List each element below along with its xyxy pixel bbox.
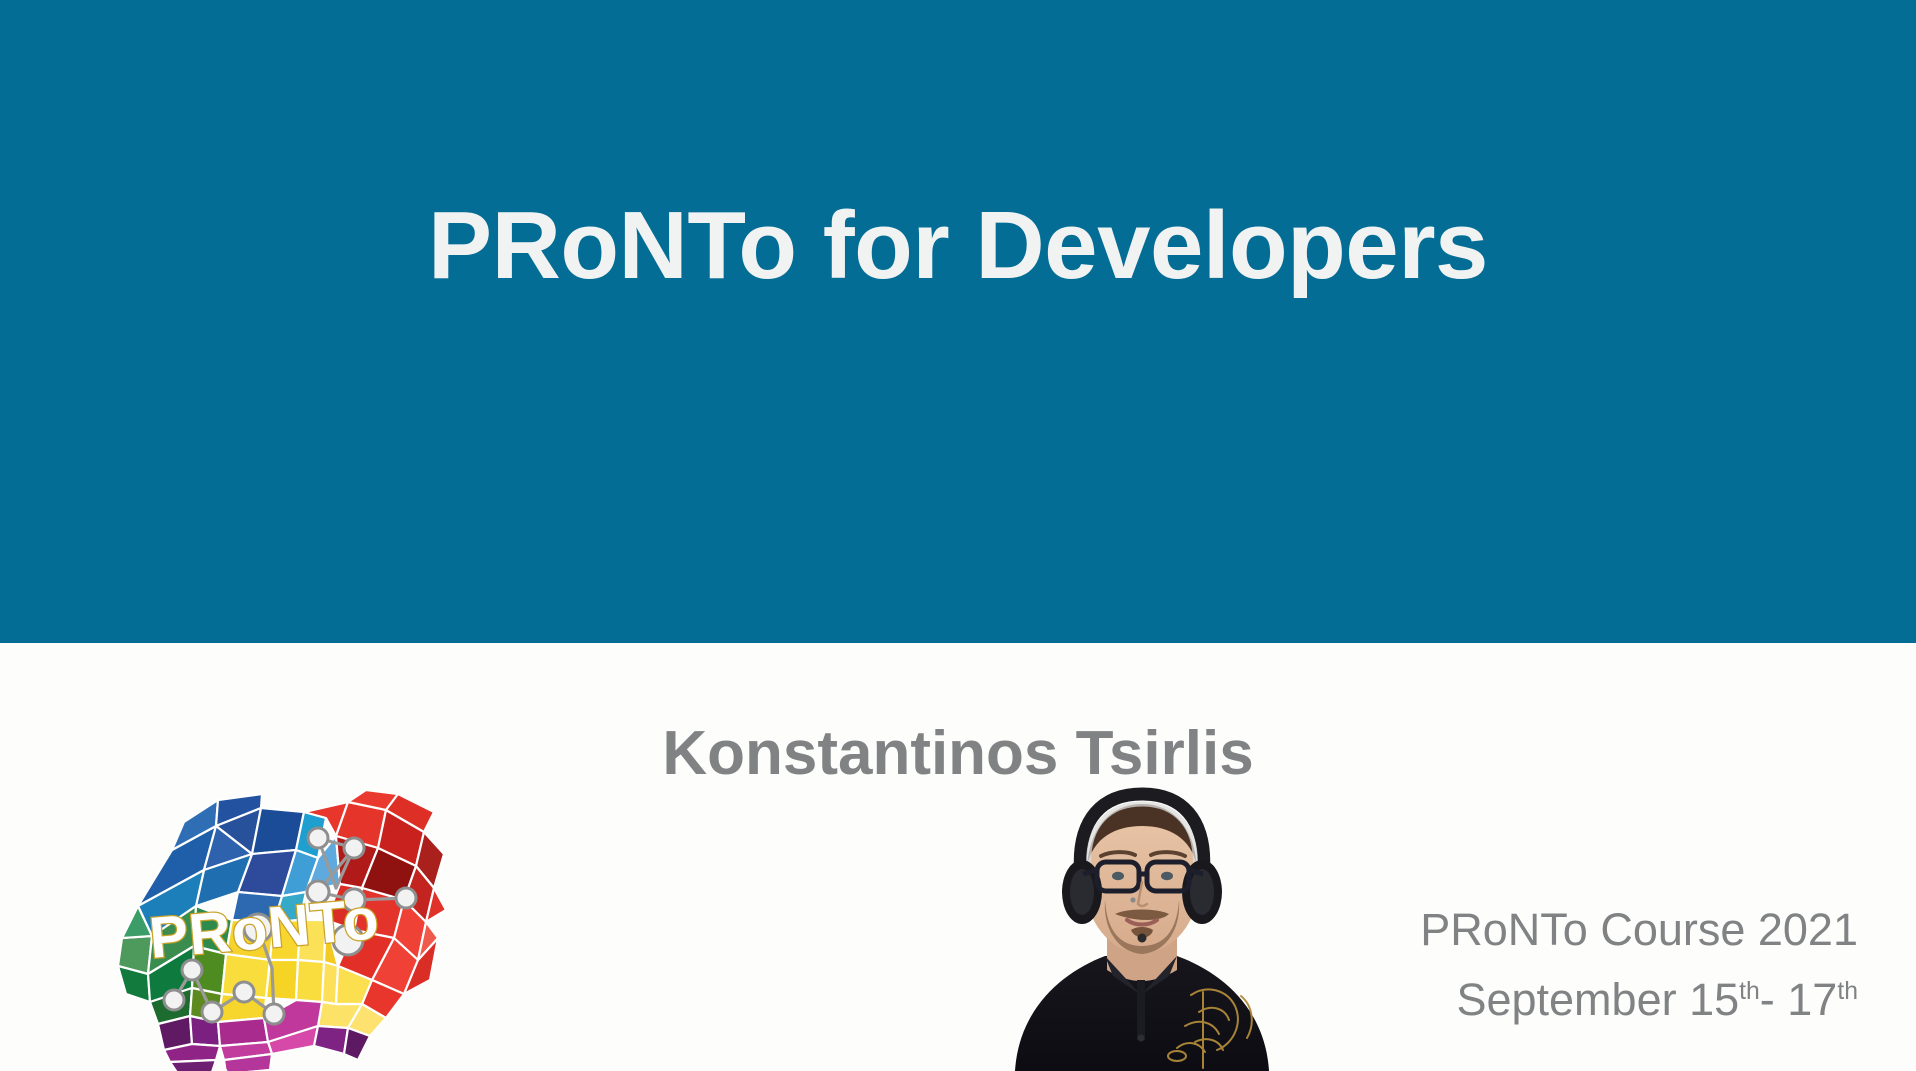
date-prefix: September 15 xyxy=(1456,974,1739,1025)
title-band: PRoNTo for Developers xyxy=(0,0,1916,643)
date-ordinal-suffix-1: th xyxy=(1739,978,1760,1005)
course-date-line: September 15th- 17th xyxy=(1420,965,1858,1035)
presenter-name: Konstantinos Tsirlis xyxy=(0,723,1916,785)
pronto-brain-logo-icon: PRoNTo xyxy=(86,788,446,1071)
slide-title: PRoNTo for Developers xyxy=(0,196,1916,297)
presentation-slide: PRoNTo for Developers Konstantinos Tsirl… xyxy=(0,0,1916,1071)
course-meta: PRoNTo Course 2021 September 15th- 17th xyxy=(1420,895,1858,1035)
date-ordinal-suffix-2: th xyxy=(1837,978,1858,1005)
course-title-line: PRoNTo Course 2021 xyxy=(1420,895,1858,965)
presenter-video-cutout xyxy=(955,780,1325,1071)
date-middle: - 17 xyxy=(1760,974,1838,1025)
